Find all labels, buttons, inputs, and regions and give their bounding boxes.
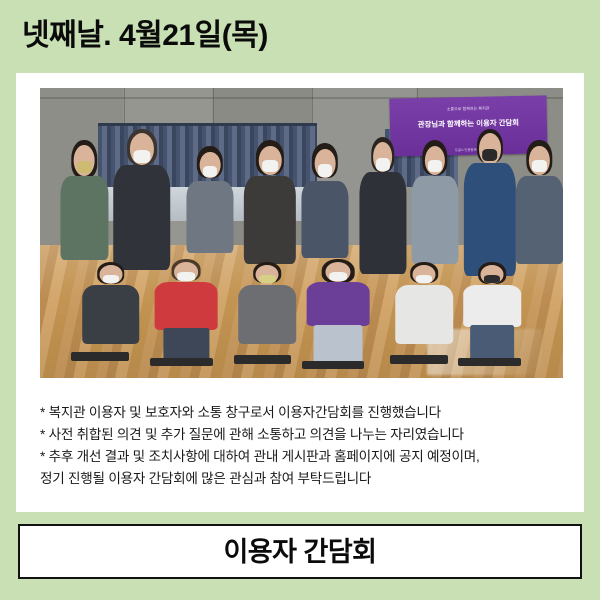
photo-person-seated: [239, 262, 297, 364]
description-line-2: * 사전 취합된 의견 및 추가 질문에 관해 소통하고 의견을 나누는 자리였…: [40, 424, 568, 446]
group-photo: 소통으로 함께하는 복지관 관장님과 함께하는 이용자 간담회 도봉노인종합복지…: [40, 88, 563, 378]
photo-person: [516, 140, 563, 273]
photo-chair: [458, 358, 521, 367]
photo-chair: [302, 361, 365, 370]
photo-person: [113, 129, 171, 280]
event-banner-main-line: 관장님과 함께하는 이용자 간담회: [390, 117, 547, 129]
description-line-1: * 복지관 이용자 및 보호자와 소통 창구로서 이용자간담회를 진행했습니다: [40, 402, 568, 424]
photo-chair: [71, 352, 129, 361]
photo-chair: [150, 358, 213, 367]
photo-person: [186, 146, 233, 262]
description-line-3: * 추후 개선 결과 및 조치사항에 대하여 관내 게시판과 홈페이지에 공지 …: [40, 446, 568, 468]
photo-person: [411, 140, 458, 273]
footer-title: 이용자 간담회: [223, 537, 376, 567]
event-banner-top-line: 소통으로 함께하는 복지관: [390, 104, 547, 112]
photo-chair: [234, 355, 292, 364]
photo-person-seated: [464, 262, 522, 366]
photo-person-seated: [396, 262, 454, 364]
content-panel: 소통으로 함께하는 복지관 관장님과 함께하는 이용자 간담회 도봉노인종합복지…: [16, 73, 584, 512]
photo-person-seated: [82, 262, 140, 361]
poster-header: 넷째날. 4월21일(목): [0, 0, 600, 73]
description-line-4: 정기 진행될 이용자 간담회에 많은 관심과 참여 부탁드립니다: [40, 468, 568, 490]
photo-person: [302, 143, 349, 268]
page-title: 넷째날. 4월21일(목): [22, 17, 268, 55]
photo-person-seated: [307, 259, 370, 369]
footer-banner: 이용자 간담회: [18, 524, 582, 579]
poster-card: 넷째날. 4월21일(목) 소통으로 함께하는 복지관 관장님과 함께하는 이용…: [0, 0, 600, 600]
photo-person: [244, 140, 296, 273]
photo-person: [61, 140, 108, 268]
photo-chair: [390, 355, 448, 364]
description-text: * 복지관 이용자 및 보호자와 소통 창구로서 이용자간담회를 진행했습니다 …: [40, 402, 568, 490]
photo-person-seated: [155, 259, 218, 366]
